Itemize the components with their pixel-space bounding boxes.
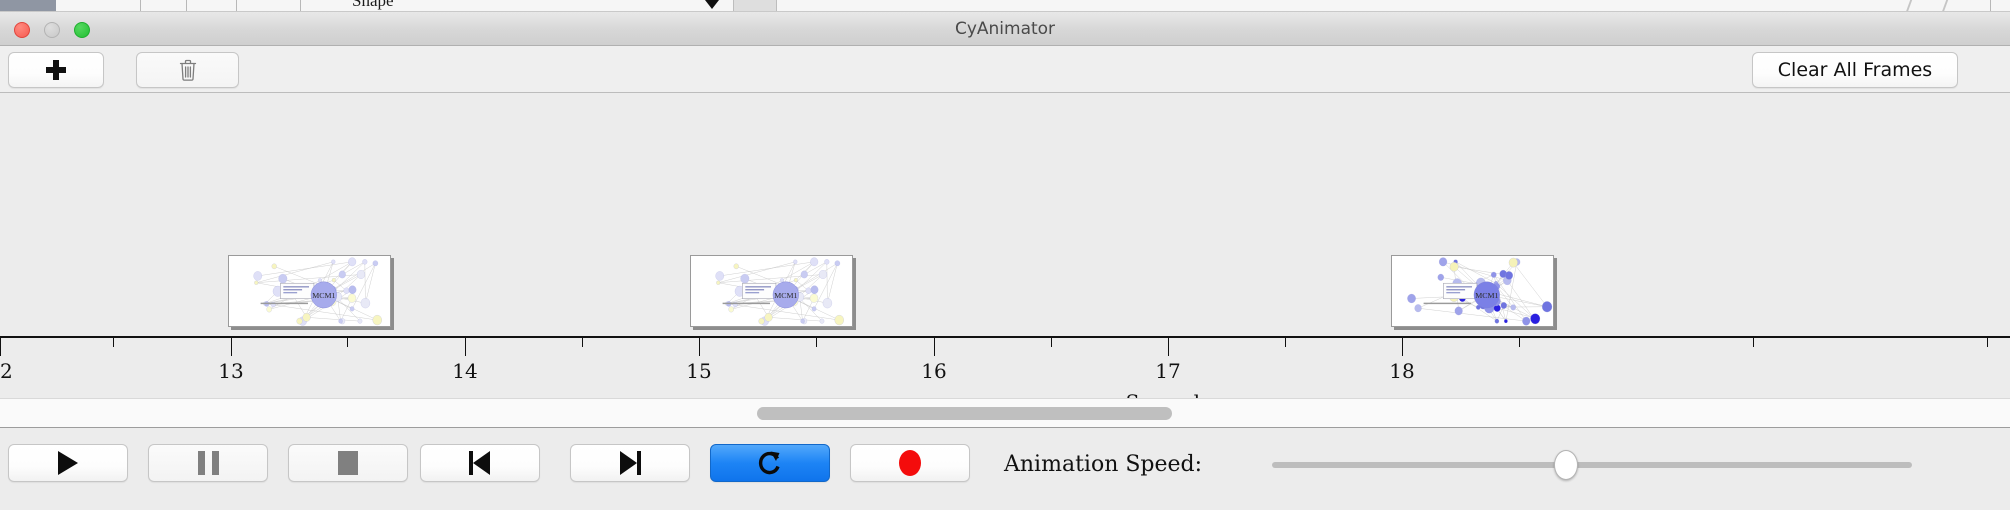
svg-text:MCM1: MCM1 (312, 291, 335, 300)
svg-text:MCM1: MCM1 (774, 291, 797, 300)
skip-next-button[interactable] (570, 444, 690, 482)
tick-major (231, 338, 232, 356)
record-icon (899, 450, 921, 476)
stop-button[interactable] (288, 444, 408, 482)
frame-thumbnail[interactable]: MCM1 (690, 255, 853, 327)
clear-all-frames-button[interactable]: Clear All Frames (1752, 52, 1958, 88)
bg-slash (1906, 0, 1912, 12)
tick-minor (1753, 338, 1754, 347)
tick-minor (113, 338, 114, 347)
tick-major (465, 338, 466, 356)
delete-frame-button[interactable] (136, 52, 239, 88)
tick-major (934, 338, 935, 356)
trash-icon (179, 59, 197, 81)
tick-minor (1519, 338, 1520, 347)
bg-divider (236, 0, 237, 12)
timeline-axis (0, 336, 2010, 338)
window-title: CyAnimator (0, 19, 2010, 39)
timeline-scrollbar[interactable] (0, 398, 2010, 428)
bg-divider (140, 0, 141, 12)
bg-divider (300, 0, 301, 12)
bg-box (733, 0, 777, 12)
tick-minor (816, 338, 817, 347)
tick-label: 17 (1155, 359, 1180, 383)
tick-label: 14 (452, 359, 477, 383)
tick-major (699, 338, 700, 356)
cyanimator-window: CyAnimator Clear All Frames MCM1MCM1MCM1… (0, 12, 2010, 510)
axis-title: Seconds (1126, 390, 1211, 398)
plus-icon (46, 60, 66, 80)
loop-icon (757, 449, 783, 477)
add-frame-button[interactable] (8, 52, 104, 88)
animation-speed-slider[interactable] (1272, 462, 1912, 468)
animation-speed-label: Animation Speed: (1004, 452, 1202, 477)
tick-minor (1285, 338, 1286, 347)
tick-major (1168, 338, 1169, 356)
toolbar: Clear All Frames (0, 46, 2010, 93)
svg-text:MCM1: MCM1 (1475, 291, 1498, 300)
bg-divider (186, 0, 187, 12)
tick-minor (347, 338, 348, 347)
animation-speed-thumb[interactable] (1554, 450, 1578, 480)
titlebar: CyAnimator (0, 12, 2010, 46)
frame-thumbnail[interactable]: MCM1 (228, 255, 391, 327)
record-button[interactable] (850, 444, 970, 482)
timeline-panel[interactable]: MCM1MCM1MCM1 12131415161718 Seconds (0, 93, 2010, 398)
pause-icon (198, 451, 219, 475)
skip-previous-icon (469, 451, 491, 475)
bg-triangle-icon (705, 0, 719, 9)
tick-major (0, 338, 1, 356)
skip-next-icon (619, 451, 641, 475)
stop-icon (338, 451, 358, 475)
tick-minor (1051, 338, 1052, 347)
frame-thumbnail[interactable]: MCM1 (1391, 255, 1554, 327)
tick-label: 16 (921, 359, 946, 383)
tick-major (1402, 338, 1403, 356)
bg-partial-label: Shape (352, 0, 394, 11)
scrollbar-thumb[interactable] (757, 407, 1172, 420)
tick-label: 13 (218, 359, 243, 383)
bg-divider (1990, 0, 1991, 12)
tick-label: 15 (686, 359, 711, 383)
bg-block (0, 0, 56, 12)
tick-label: 12 (0, 359, 13, 383)
tick-label: 18 (1389, 359, 1414, 383)
transport-bar: Animation Speed: (0, 428, 2010, 507)
loop-button[interactable] (710, 444, 830, 482)
pause-button[interactable] (148, 444, 268, 482)
play-button[interactable] (8, 444, 128, 482)
background-window-strip: Shape (0, 0, 2010, 12)
tick-minor (582, 338, 583, 347)
bg-slash (1942, 0, 1948, 12)
tick-minor (1987, 338, 1988, 347)
clear-all-frames-label: Clear All Frames (1778, 59, 1932, 81)
play-icon (58, 451, 78, 475)
skip-previous-button[interactable] (420, 444, 540, 482)
